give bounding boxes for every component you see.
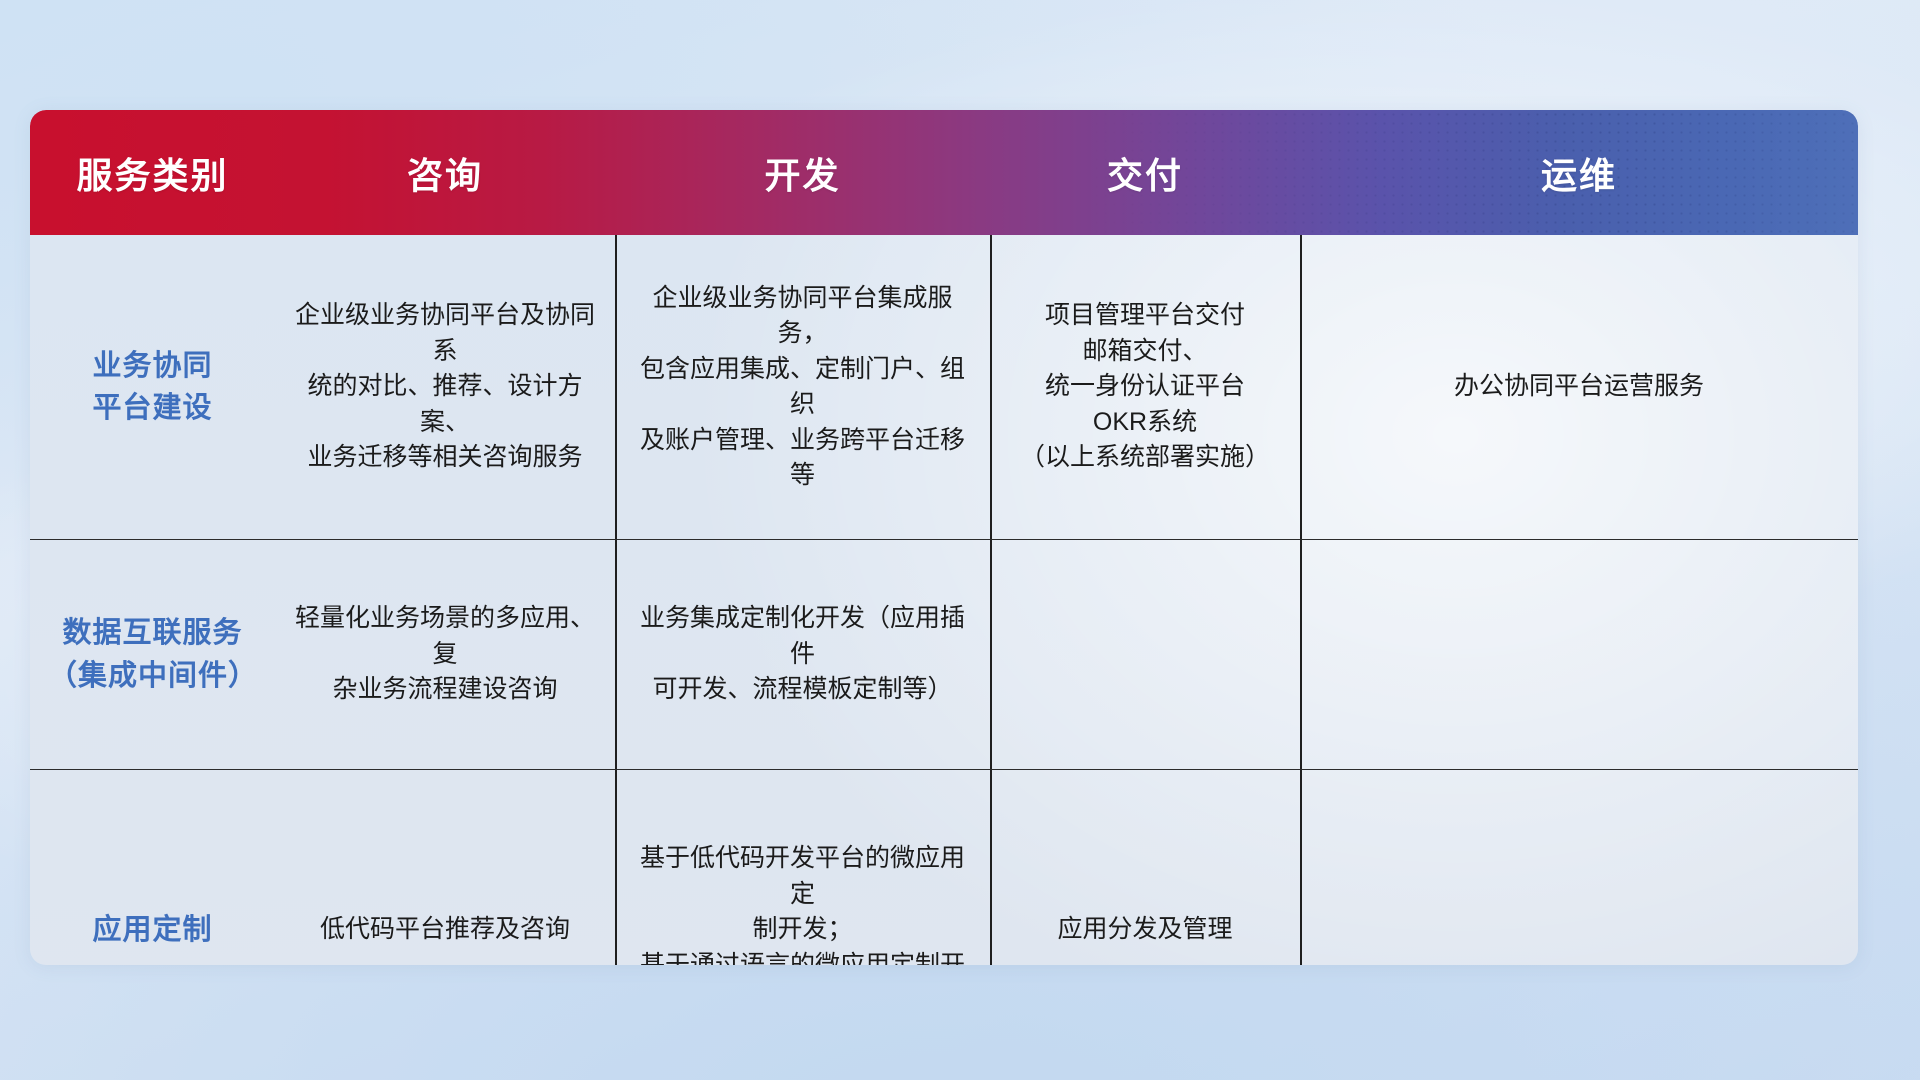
- column-header-development: 开发: [615, 110, 990, 235]
- row-category-label: 应用定制: [30, 770, 275, 965]
- cell-development: 企业级业务协同平台集成服务， 包含应用集成、定制门户、组织 及账户管理、业务跨平…: [615, 235, 990, 539]
- column-header-service-category: 服务类别: [30, 110, 275, 235]
- cell-delivery: 项目管理平台交付 邮箱交付、 统一身份认证平台 OKR系统 （以上系统部署实施）: [990, 235, 1300, 539]
- column-header-operations: 运维: [1300, 110, 1858, 235]
- column-header-delivery: 交付: [990, 110, 1300, 235]
- table-header-row: 服务类别 咨询 开发 交付 运维: [30, 110, 1858, 235]
- cell-consulting: 低代码平台推荐及咨询: [275, 770, 615, 965]
- cell-operations: 办公协同平台运营服务: [1300, 235, 1858, 539]
- cell-delivery: 应用分发及管理: [990, 770, 1300, 965]
- column-header-consulting: 咨询: [275, 110, 615, 235]
- cell-development: 业务集成定制化开发（应用插件 可开发、流程模板定制等）: [615, 540, 990, 769]
- table-row: 应用定制 低代码平台推荐及咨询 基于低代码开发平台的微应用定 制开发； 基于通过…: [30, 770, 1858, 965]
- row-category-label: 业务协同 平台建设: [30, 235, 275, 539]
- table-row: 业务协同 平台建设 企业级业务协同平台及协同系 统的对比、推荐、设计方案、 业务…: [30, 235, 1858, 540]
- table-row: 数据互联服务 （集成中间件） 轻量化业务场景的多应用、复 杂业务流程建设咨询 业…: [30, 540, 1858, 770]
- cell-development: 基于低代码开发平台的微应用定 制开发； 基于通过语言的微应用定制开发: [615, 770, 990, 965]
- cell-operations: [1300, 540, 1858, 769]
- services-matrix-table: 服务类别 咨询 开发 交付 运维 业务协同 平台建设 企业级业务协同平台及协同系…: [30, 110, 1858, 965]
- cell-consulting: 轻量化业务场景的多应用、复 杂业务流程建设咨询: [275, 540, 615, 769]
- cell-operations: [1300, 770, 1858, 965]
- cell-delivery: [990, 540, 1300, 769]
- cell-consulting: 企业级业务协同平台及协同系 统的对比、推荐、设计方案、 业务迁移等相关咨询服务: [275, 235, 615, 539]
- row-category-label: 数据互联服务 （集成中间件）: [30, 540, 275, 769]
- slide-canvas: 服务类别 咨询 开发 交付 运维 业务协同 平台建设 企业级业务协同平台及协同系…: [0, 0, 1920, 1080]
- table-body: 业务协同 平台建设 企业级业务协同平台及协同系 统的对比、推荐、设计方案、 业务…: [30, 235, 1858, 965]
